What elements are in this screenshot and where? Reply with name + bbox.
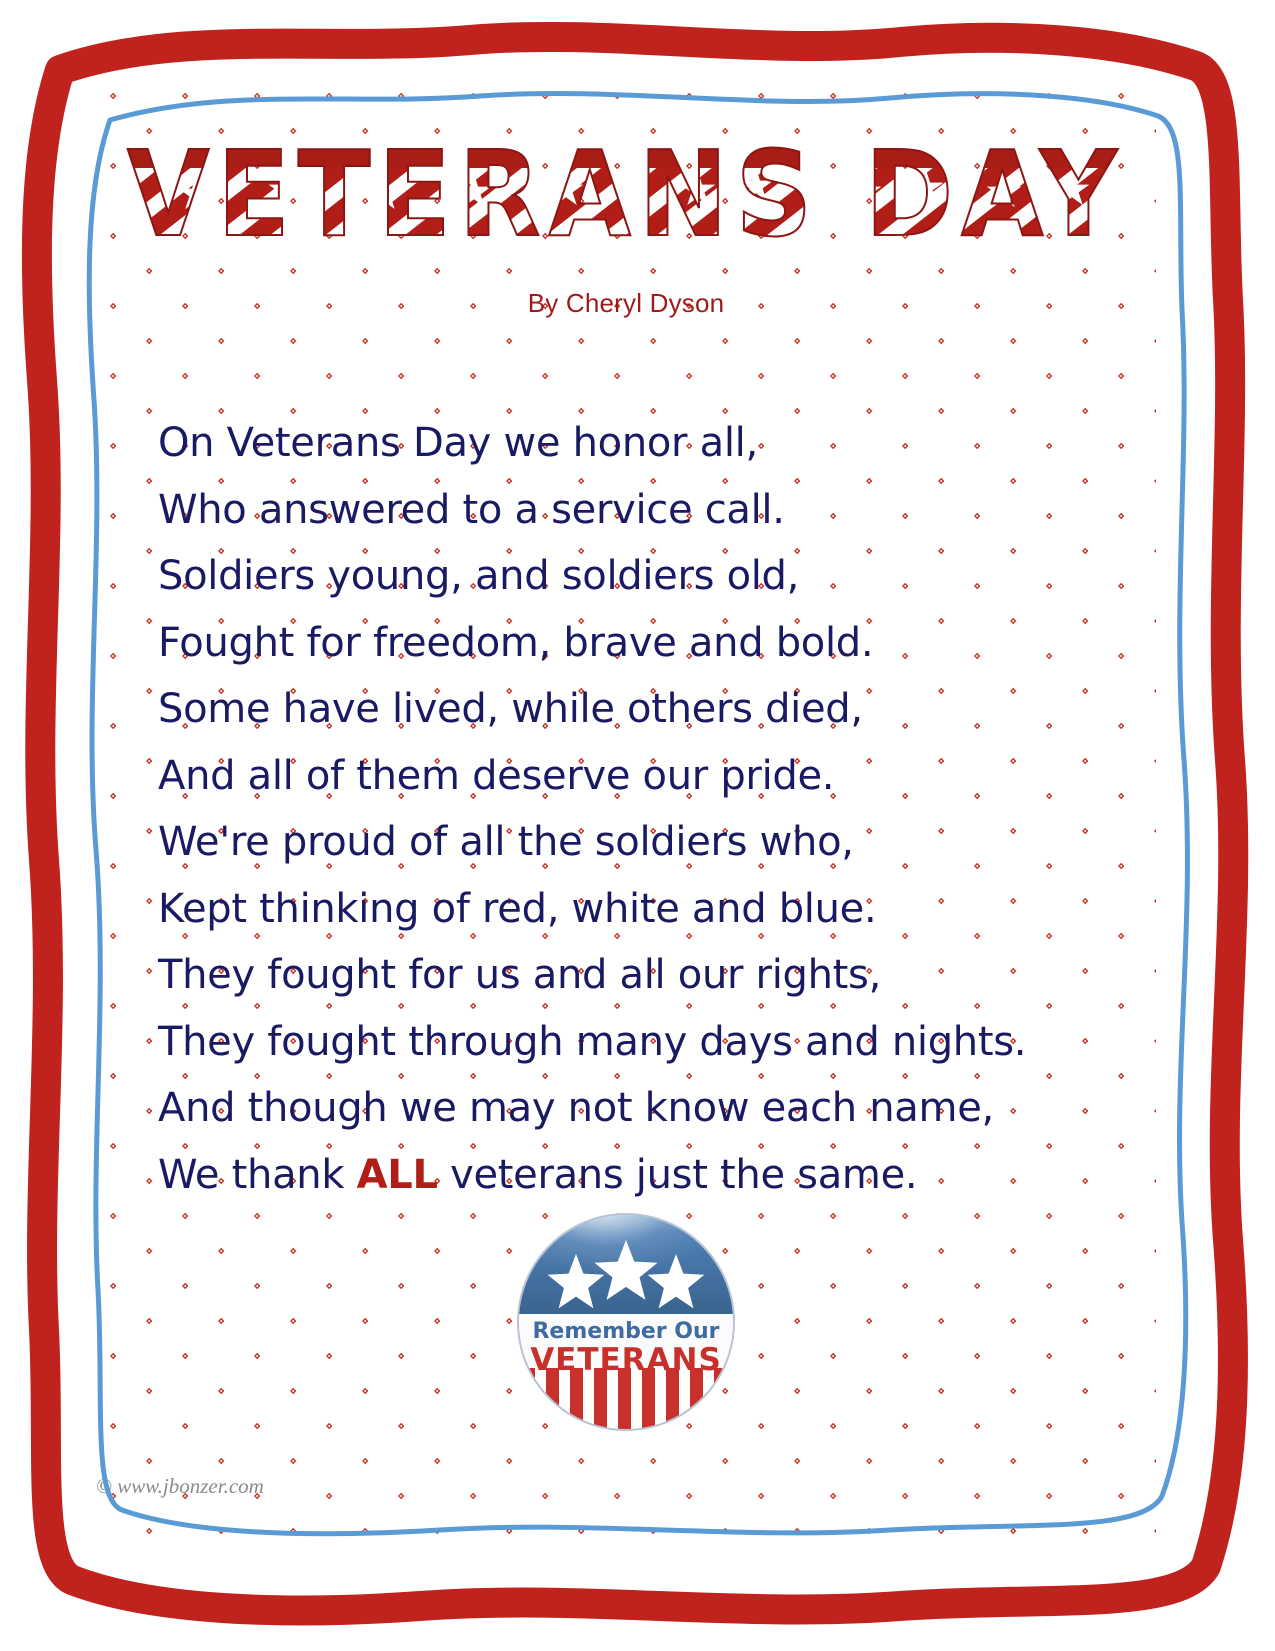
poem-emphasis-all: ALL — [357, 1152, 438, 1198]
poem-line: And all of them deserve our pride. — [158, 743, 1148, 810]
copyright-notice: © www.jbonzer.com — [96, 1474, 264, 1499]
badge-main-text: VETERANS — [530, 1342, 722, 1378]
author-byline: By Cheryl Dyson — [96, 288, 1156, 319]
badge-inner: Remember Our VETERANS — [514, 1210, 738, 1434]
title-text-outline: VETERANS DAY — [127, 132, 1125, 262]
poem-line: On Veterans Day we honor all, — [158, 410, 1148, 477]
veterans-day-poster: VETERANS DAY — [0, 0, 1275, 1651]
poem-final-line-before: We thank — [158, 1152, 357, 1198]
poem-line: And though we may not know each name, — [158, 1075, 1148, 1142]
poem-line: Fought for freedom, brave and bold. — [158, 610, 1148, 677]
poem-body: On Veterans Day we honor all, Who answer… — [158, 410, 1148, 1208]
poem-line: Who answered to a service call. — [158, 477, 1148, 544]
poem-line: Soldiers young, and soldiers old, — [158, 543, 1148, 610]
poem-line: We're proud of all the soldiers who, — [158, 809, 1148, 876]
poem-line: Some have lived, while others died, — [158, 676, 1148, 743]
poster-content-area: VETERANS DAY — [96, 84, 1156, 1536]
remember-our-veterans-badge: Remember Our VETERANS — [514, 1210, 738, 1434]
page-title: VETERANS DAY — [96, 132, 1156, 262]
badge-top-text: Remember Our — [532, 1319, 719, 1344]
title-stars-and-stripes-text: VETERANS DAY — [126, 132, 1126, 262]
poem-final-line-after: veterans just the same. — [438, 1152, 918, 1198]
poem-line: They fought through many days and nights… — [158, 1009, 1148, 1076]
poem-final-line: We thank ALL veterans just the same. — [158, 1142, 1148, 1209]
poem-line: They fought for us and all our rights, — [158, 942, 1148, 1009]
poem-line: Kept thinking of red, white and blue. — [158, 876, 1148, 943]
